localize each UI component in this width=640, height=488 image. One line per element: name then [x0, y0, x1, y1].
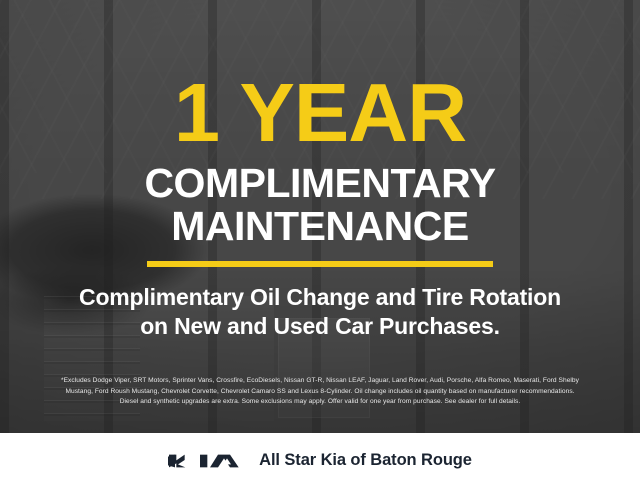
hero-section: 1 YEAR COMPLIMENTARY MAINTENANCE Complim…: [0, 0, 640, 433]
offer-tagline-line1: Complimentary Oil Change and Tire Rotati…: [79, 283, 561, 312]
disclaimer-line-2: Mustang, Ford Roush Mustang, Chevrolet C…: [14, 387, 626, 398]
disclaimer-line-1: *Excludes Dodge Viper, SRT Motors, Sprin…: [14, 376, 626, 387]
promotional-banner: 1 YEAR COMPLIMENTARY MAINTENANCE Complim…: [0, 0, 640, 488]
offer-subheadline-line1: COMPLIMENTARY: [144, 163, 495, 204]
offer-tagline: Complimentary Oil Change and Tire Rotati…: [79, 283, 561, 342]
yellow-divider-rule: [147, 261, 493, 267]
offer-subheadline-line2: MAINTENANCE: [171, 206, 468, 247]
hero-content: 1 YEAR COMPLIMENTARY MAINTENANCE Complim…: [0, 0, 640, 433]
disclaimer-text: *Excludes Dodge Viper, SRT Motors, Sprin…: [14, 376, 626, 408]
offer-tagline-line2: on New and Used Car Purchases.: [79, 312, 561, 341]
kia-logo-icon: [168, 450, 242, 472]
dealer-footer: All Star Kia of Baton Rouge: [0, 433, 640, 488]
offer-headline: 1 YEAR: [174, 76, 466, 149]
dealer-name-label: All Star Kia of Baton Rouge: [259, 451, 472, 470]
disclaimer-line-3: Diesel and synthetic upgrades are extra.…: [14, 397, 626, 408]
